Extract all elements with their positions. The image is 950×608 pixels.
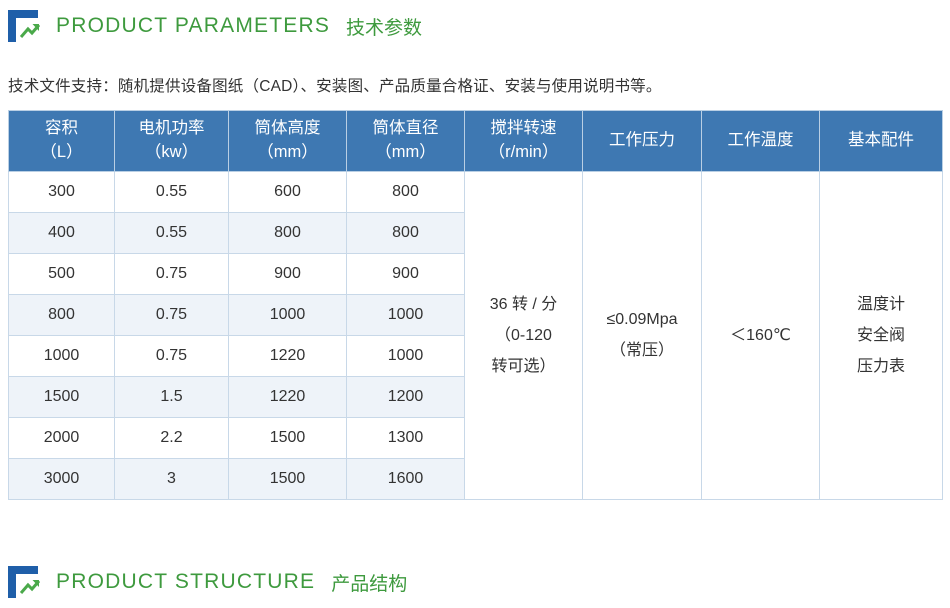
cell-volume: 400 xyxy=(9,212,115,253)
section-title-en: PRODUCT PARAMETERS xyxy=(56,14,330,38)
cell-diameter: 1600 xyxy=(347,458,465,499)
cell-volume: 500 xyxy=(9,253,115,294)
header-line-1: 电机功率 xyxy=(117,117,226,141)
accessory-line-1: 温度计 xyxy=(822,289,940,320)
green-arrow-icon xyxy=(20,21,40,41)
header-line-1: 工作温度 xyxy=(704,129,817,153)
section-title-en: PRODUCT STRUCTURE xyxy=(56,570,315,594)
bracket-arrow-icon xyxy=(8,10,42,42)
column-header-volume: 容积 （L） xyxy=(9,111,115,172)
column-header-barrel-diameter: 筒体直径 （mm） xyxy=(347,111,465,172)
cell-stirring-speed: 36 转 / 分 （0-120 转可选） xyxy=(465,171,583,499)
header-line-1: 搅拌转速 xyxy=(467,117,580,141)
cell-volume: 1500 xyxy=(9,376,115,417)
cell-working-temperature: ＜160℃ xyxy=(702,171,820,499)
pressure-line-1: ≤0.09Mpa xyxy=(585,304,699,335)
cell-volume: 2000 xyxy=(9,417,115,458)
table-header-row: 容积 （L） 电机功率 （kw） 筒体高度 （mm） 筒体直径 （mm） 搅拌转… xyxy=(9,111,943,172)
cell-diameter: 1000 xyxy=(347,335,465,376)
header-line-2: （L） xyxy=(11,141,112,165)
column-header-working-pressure: 工作压力 xyxy=(583,111,702,172)
cell-volume: 3000 xyxy=(9,458,115,499)
temperature-line-1: ＜160℃ xyxy=(704,320,817,351)
header-line-1: 筒体直径 xyxy=(349,117,462,141)
header-line-2: （mm） xyxy=(349,141,462,165)
cell-diameter: 900 xyxy=(347,253,465,294)
column-header-working-temperature: 工作温度 xyxy=(702,111,820,172)
section-title-cn: 技术参数 xyxy=(346,13,422,40)
cell-diameter: 1200 xyxy=(347,376,465,417)
header-line-2: （kw） xyxy=(117,141,226,165)
header-line-2: （mm） xyxy=(231,141,344,165)
table-row: 300 0.55 600 800 36 转 / 分 （0-120 转可选） ≤0… xyxy=(9,171,943,212)
cell-diameter: 1000 xyxy=(347,294,465,335)
cell-power: 0.75 xyxy=(115,253,229,294)
cell-volume: 300 xyxy=(9,171,115,212)
cell-height: 1000 xyxy=(229,294,347,335)
cell-diameter: 800 xyxy=(347,212,465,253)
cell-power: 0.75 xyxy=(115,335,229,376)
header-line-2: （r/min） xyxy=(467,141,580,165)
cell-volume: 1000 xyxy=(9,335,115,376)
cell-height: 1500 xyxy=(229,417,347,458)
cell-power: 0.75 xyxy=(115,294,229,335)
bracket-arrow-icon xyxy=(8,566,42,598)
product-parameters-page: PRODUCT PARAMETERS 技术参数 技术文件支持：随机提供设备图纸（… xyxy=(0,0,950,601)
cell-height: 1220 xyxy=(229,376,347,417)
cell-height: 1220 xyxy=(229,335,347,376)
header-line-1: 容积 xyxy=(11,117,112,141)
speed-line-2: （0-120 xyxy=(467,320,580,351)
cell-height: 800 xyxy=(229,212,347,253)
cell-power: 3 xyxy=(115,458,229,499)
accessory-line-2: 安全阀 xyxy=(822,320,940,351)
cell-power: 2.2 xyxy=(115,417,229,458)
green-arrow-icon xyxy=(20,577,40,597)
column-header-basic-accessories: 基本配件 xyxy=(820,111,943,172)
specification-table: 容积 （L） 电机功率 （kw） 筒体高度 （mm） 筒体直径 （mm） 搅拌转… xyxy=(8,110,943,500)
cell-height: 900 xyxy=(229,253,347,294)
section-header-structure: PRODUCT STRUCTURE 产品结构 xyxy=(0,556,407,608)
cell-height: 600 xyxy=(229,171,347,212)
cell-working-pressure: ≤0.09Mpa （常压） xyxy=(583,171,702,499)
column-header-barrel-height: 筒体高度 （mm） xyxy=(229,111,347,172)
cell-basic-accessories: 温度计 安全阀 压力表 xyxy=(820,171,943,499)
accessory-line-3: 压力表 xyxy=(822,351,940,382)
cell-volume: 800 xyxy=(9,294,115,335)
header-line-1: 基本配件 xyxy=(822,129,940,153)
header-line-1: 工作压力 xyxy=(585,129,699,153)
speed-line-3: 转可选） xyxy=(467,351,580,382)
cell-diameter: 800 xyxy=(347,171,465,212)
column-header-stirring-speed: 搅拌转速 （r/min） xyxy=(465,111,583,172)
cell-power: 0.55 xyxy=(115,171,229,212)
column-header-motor-power: 电机功率 （kw） xyxy=(115,111,229,172)
cell-diameter: 1300 xyxy=(347,417,465,458)
cell-power: 0.55 xyxy=(115,212,229,253)
cell-height: 1500 xyxy=(229,458,347,499)
header-line-1: 筒体高度 xyxy=(231,117,344,141)
section-title-cn: 产品结构 xyxy=(331,569,407,596)
cell-power: 1.5 xyxy=(115,376,229,417)
technical-document-note: 技术文件支持：随机提供设备图纸（CAD）、安装图、产品质量合格证、安装与使用说明… xyxy=(0,52,950,110)
speed-line-1: 36 转 / 分 xyxy=(467,289,580,320)
section-header-parameters: PRODUCT PARAMETERS 技术参数 xyxy=(0,0,950,52)
pressure-line-2: （常压） xyxy=(585,335,699,366)
